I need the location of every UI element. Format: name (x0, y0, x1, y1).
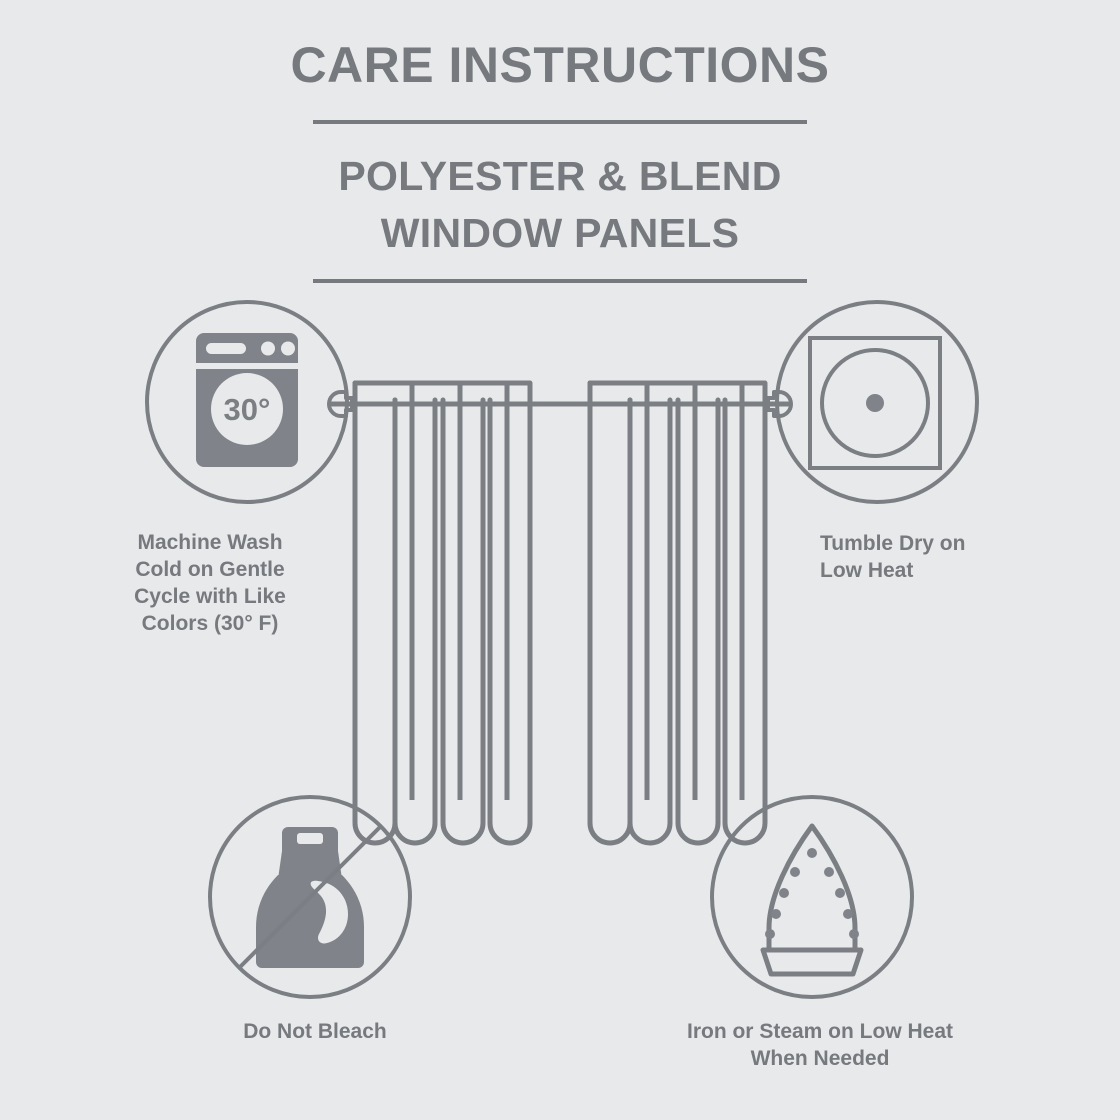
caption-line: When Needed (600, 1045, 1040, 1072)
iron-icon (763, 826, 861, 974)
symbol-iron (0, 0, 1120, 1120)
caption-iron: Iron or Steam on Low Heat When Needed (600, 1018, 1040, 1072)
caption-line: Iron or Steam on Low Heat (600, 1018, 1040, 1045)
care-instructions-infographic: CARE INSTRUCTIONS POLYESTER & BLEND WIND… (0, 0, 1120, 1120)
